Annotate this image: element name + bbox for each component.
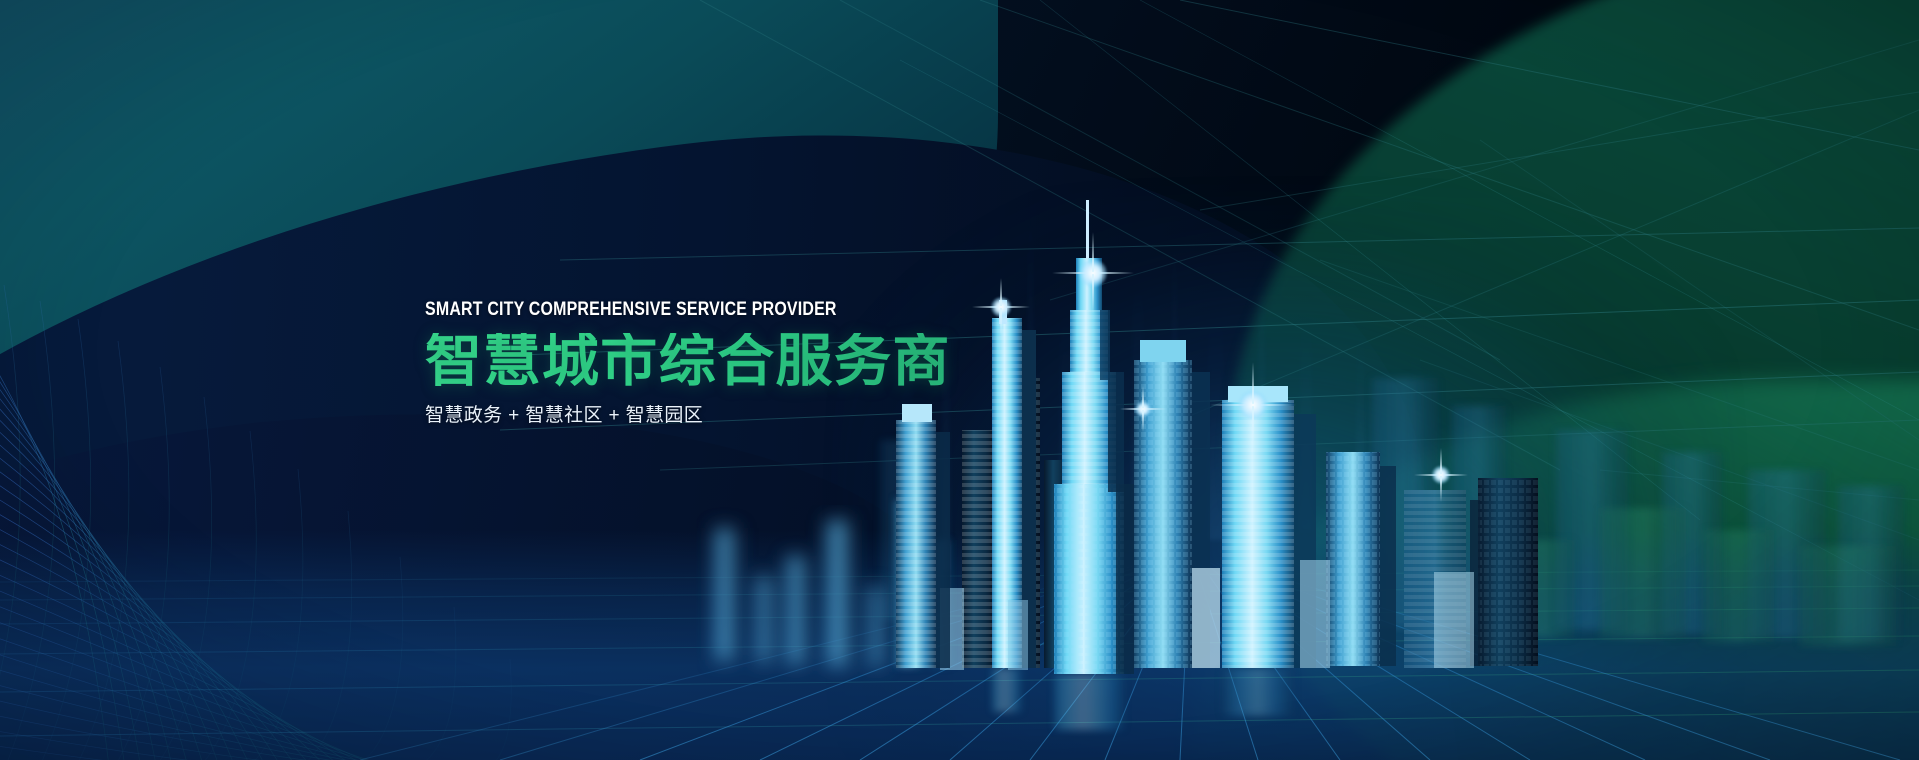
banner-eyebrow: SMART CITY COMPREHENSIVE SERVICE PROVIDE…	[425, 300, 867, 319]
banner-headline: 智慧城市综合服务商	[425, 333, 951, 390]
banner-subline: 智慧政务 + 智慧社区 + 智慧园区	[425, 406, 951, 425]
hero-copy: SMART CITY COMPREHENSIVE SERVICE PROVIDE…	[425, 300, 951, 425]
hero-banner: SMART CITY COMPREHENSIVE SERVICE PROVIDE…	[0, 0, 1919, 760]
perspective-ground	[0, 530, 1919, 760]
